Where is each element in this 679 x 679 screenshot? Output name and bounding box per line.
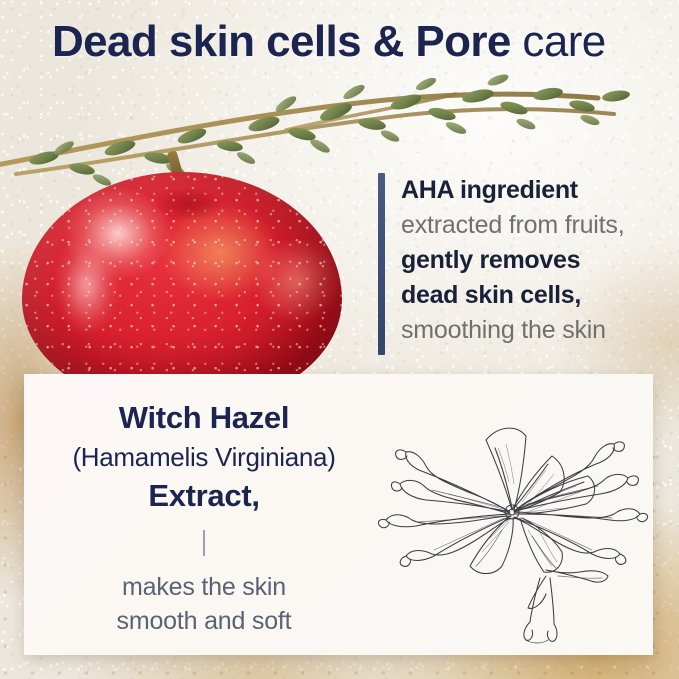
aha-line-3: gently removes xyxy=(401,243,624,278)
apple-specular-highlight xyxy=(50,232,134,364)
aha-ingredient-lines: AHA ingredient extracted from fruits, ge… xyxy=(401,173,624,355)
apple-photo xyxy=(22,150,342,412)
aha-line-5: smoothing the skin xyxy=(401,313,624,348)
witch-hazel-benefit-line-1: makes the skin xyxy=(24,570,384,604)
aha-ingredient-block: AHA ingredient extracted from fruits, ge… xyxy=(378,173,624,355)
witch-hazel-heading: Witch Hazel xyxy=(24,398,384,438)
witch-hazel-card: Witch Hazel (Hamamelis Virginiana) Extra… xyxy=(24,374,653,655)
aha-line-2: extracted from fruits, xyxy=(401,208,624,243)
product-infographic: Dead skin cells & Pore care AHA ingredie… xyxy=(0,0,679,679)
witch-hazel-flower-line-drawing xyxy=(362,378,662,650)
apple-stem-dimple xyxy=(140,188,236,228)
witch-hazel-benefit-line-2: smooth and soft xyxy=(24,604,384,638)
page-title: Dead skin cells & Pore care xyxy=(52,18,606,66)
text-divider xyxy=(203,530,205,556)
witch-hazel-extract-label: Extract, xyxy=(24,476,384,516)
witch-hazel-latin-name: (Hamamelis Virginiana) xyxy=(24,438,384,476)
page-title-bold: Dead skin cells & Pore xyxy=(52,17,511,66)
witch-hazel-text: Witch Hazel (Hamamelis Virginiana) Extra… xyxy=(24,398,384,638)
aha-line-1: AHA ingredient xyxy=(401,173,624,208)
aha-line-4: dead skin cells, xyxy=(401,278,624,313)
vertical-accent-bar xyxy=(378,173,385,355)
page-title-light: care xyxy=(511,17,606,66)
apple-body xyxy=(22,172,342,408)
